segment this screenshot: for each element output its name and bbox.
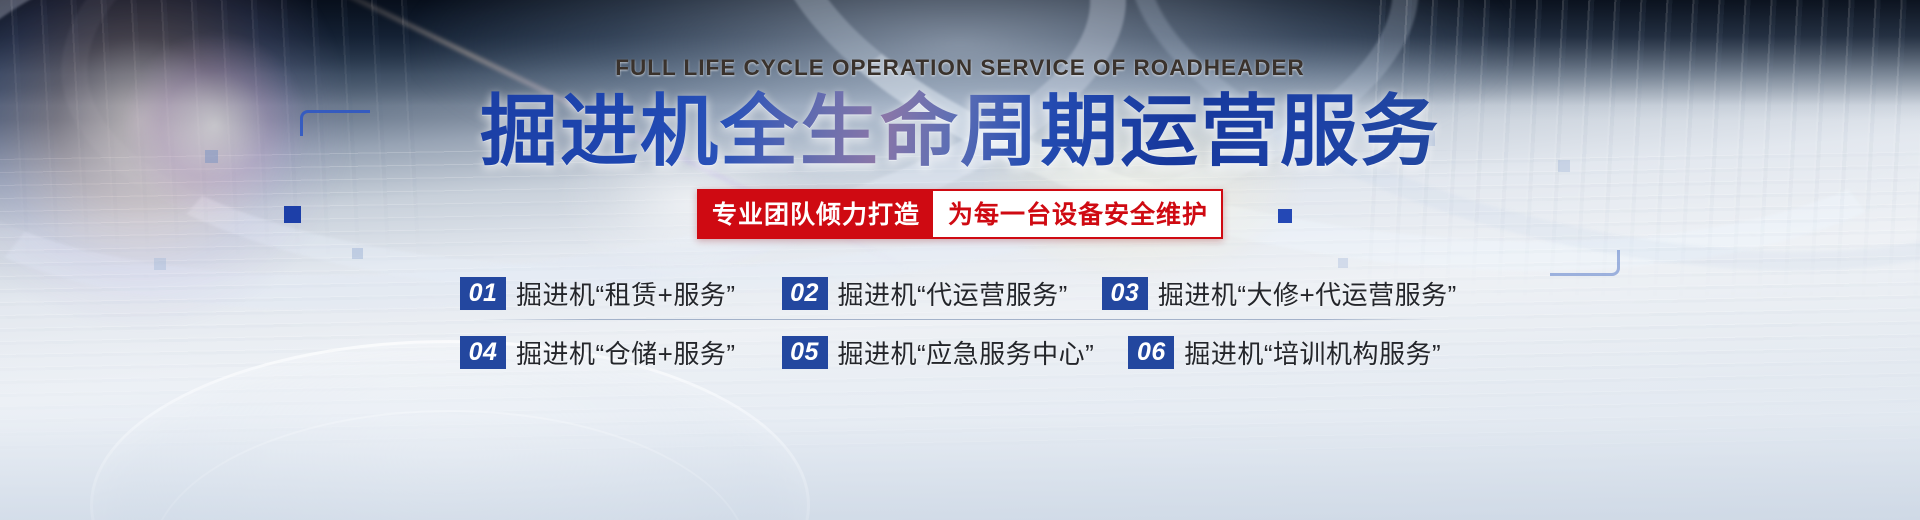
service-divider <box>480 319 1440 320</box>
service-label: 掘进机“大修+代运营服务” <box>1158 275 1457 312</box>
service-label: 掘进机“培训机构服务” <box>1184 334 1441 371</box>
service-number-badge: 03 <box>1102 277 1148 310</box>
service-row-2: 04 掘进机“仓储+服务” 05 掘进机“应急服务中心” 06 掘进机“培训机构… <box>460 326 1460 378</box>
service-item-04[interactable]: 04 掘进机“仓储+服务” <box>460 334 736 371</box>
service-label: 掘进机“代运营服务” <box>838 275 1068 312</box>
service-number-badge: 05 <box>782 336 828 369</box>
banner-headline: 掘进机全生命周期运营服务 <box>480 89 1440 173</box>
banner-eyebrow-english: FULL LIFE CYCLE OPERATION SERVICE OF ROA… <box>615 55 1305 81</box>
service-number-badge: 01 <box>460 277 506 310</box>
service-row-1: 01 掘进机“租赁+服务” 02 掘进机“代运营服务” 03 掘进机“大修+代运… <box>460 267 1460 319</box>
service-list: 01 掘进机“租赁+服务” 02 掘进机“代运营服务” 03 掘进机“大修+代运… <box>460 267 1460 378</box>
promo-banner: FULL LIFE CYCLE OPERATION SERVICE OF ROA… <box>0 0 1920 520</box>
service-number-badge: 02 <box>782 277 828 310</box>
service-label: 掘进机“租赁+服务” <box>516 275 736 312</box>
service-item-02[interactable]: 02 掘进机“代运营服务” <box>782 275 1068 312</box>
service-item-03[interactable]: 03 掘进机“大修+代运营服务” <box>1102 275 1457 312</box>
banner-content: FULL LIFE CYCLE OPERATION SERVICE OF ROA… <box>0 0 1920 520</box>
service-item-01[interactable]: 01 掘进机“租赁+服务” <box>460 275 736 312</box>
slogan-ribbon: 专业团队倾力打造 为每一台设备安全维护 <box>697 189 1223 239</box>
slogan-ribbon-right: 为每一台设备安全维护 <box>935 191 1221 237</box>
service-number-badge: 04 <box>460 336 506 369</box>
service-item-05[interactable]: 05 掘进机“应急服务中心” <box>782 334 1095 371</box>
slogan-ribbon-left: 专业团队倾力打造 <box>699 191 933 237</box>
service-label: 掘进机“应急服务中心” <box>838 334 1095 371</box>
service-item-06[interactable]: 06 掘进机“培训机构服务” <box>1128 334 1441 371</box>
service-number-badge: 06 <box>1128 336 1174 369</box>
service-label: 掘进机“仓储+服务” <box>516 334 736 371</box>
